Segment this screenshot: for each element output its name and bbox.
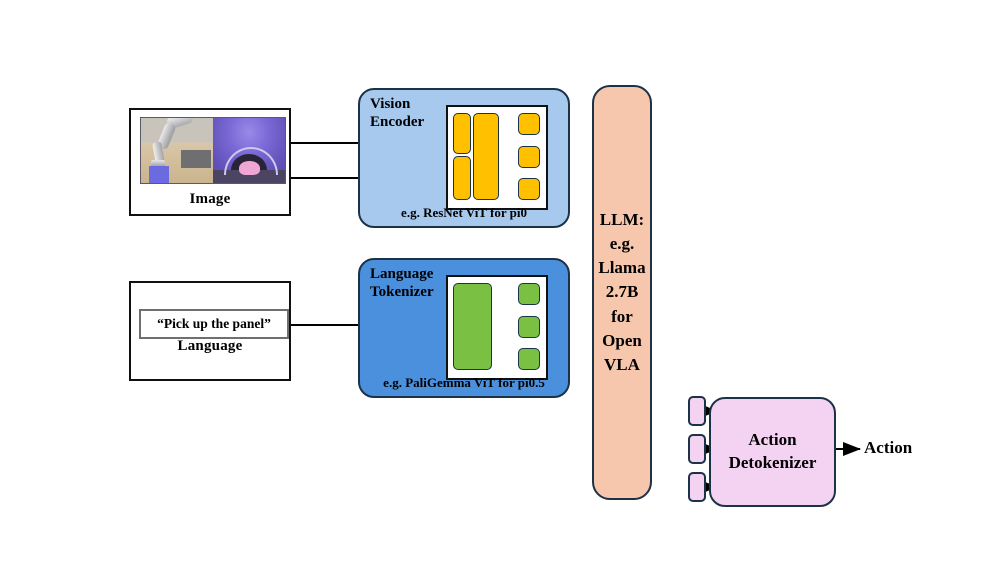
vision-feature-bar-a	[453, 113, 471, 154]
image-thumbnail	[140, 117, 286, 184]
language-tokenizer-title: Language Tokenizer	[370, 266, 456, 301]
vision-feature-bar-c	[473, 113, 499, 200]
action-output-label: Action	[864, 438, 912, 458]
llm-label: LLM: e.g. Llama 2.7B for Open VLA	[598, 208, 645, 377]
language-input-box: “Pick up the panel” Language	[129, 281, 291, 381]
vision-token-1	[518, 113, 540, 135]
vision-encoder-inner-canvas	[446, 105, 548, 210]
language-token-2	[518, 316, 540, 338]
language-token-1	[518, 283, 540, 305]
language-input-caption: Language	[131, 338, 289, 355]
image-input-caption: Image	[131, 191, 289, 208]
action-detokenizer-block: Action Detokenizer	[709, 397, 836, 507]
language-tokenizer-note: e.g. PaliGemma ViT for pi0.5	[360, 375, 568, 391]
vision-encoder-panel: Vision Encoder e.g. ResNet ViT for pi0	[358, 88, 570, 228]
language-token-3	[518, 348, 540, 370]
image-input-box: Image	[129, 108, 291, 216]
action-token-2	[688, 434, 706, 464]
diagram-canvas: Image “Pick up the panel” Language Visio…	[0, 0, 997, 561]
gray-pad	[181, 150, 211, 168]
vision-token-2	[518, 146, 540, 168]
blue-object	[149, 166, 169, 183]
action-token-1	[688, 396, 706, 426]
vision-encoder-note: e.g. ResNet ViT for pi0	[360, 205, 568, 221]
action-token-3	[688, 472, 706, 502]
vision-feature-bar-b	[453, 156, 471, 200]
vision-token-3	[518, 178, 540, 200]
language-tokenizer-inner-canvas	[446, 275, 548, 380]
llm-block: LLM: e.g. Llama 2.7B for Open VLA	[592, 85, 652, 500]
language-utterance-chip: “Pick up the panel”	[139, 309, 289, 339]
action-detokenizer-label: Action Detokenizer	[729, 429, 817, 475]
language-tokenizer-panel: Language Tokenizer e.g. PaliGemma ViT fo…	[358, 258, 570, 398]
robot-arm-thumbnail	[141, 118, 213, 183]
pink-object	[239, 161, 260, 175]
language-feature-bar	[453, 283, 492, 370]
vision-encoder-title: Vision Encoder	[370, 96, 456, 131]
purple-scene-thumbnail	[213, 118, 285, 183]
